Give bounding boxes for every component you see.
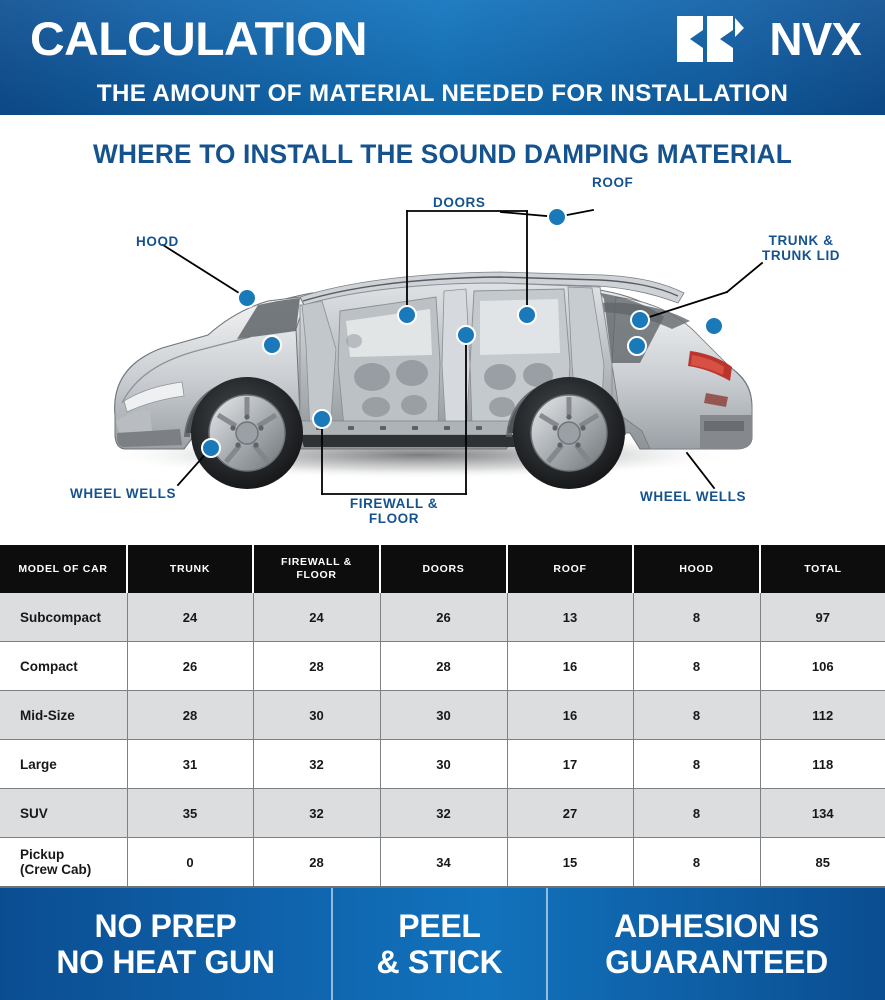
cell-firewall-floor: 28 <box>253 838 380 888</box>
col-header-firewall-line1: FIREWALL & <box>281 556 352 568</box>
calculation-table: MODEL OF CAR TRUNK FIREWALL & FLOOR DOOR… <box>0 545 885 888</box>
brand-logo-text: NVX <box>769 16 861 62</box>
footer-benefit-peel-stick: PEEL & STICK <box>333 888 548 1000</box>
cell-hood: 8 <box>633 740 760 789</box>
table-row: Large 31 32 30 17 8 118 <box>0 740 885 789</box>
callout-roof: ROOF <box>592 175 633 190</box>
callout-firewall-line1: FIREWALL & <box>318 496 470 511</box>
page-header: CALCULATION NVX <box>0 0 885 115</box>
cell-doors: 28 <box>380 642 507 691</box>
infographic-page: CALCULATION NVX <box>0 0 885 1000</box>
diagram-section: WHERE TO INSTALL THE SOUND DAMPING MATER… <box>0 115 885 545</box>
brand-logo: NVX <box>677 16 861 62</box>
cell-trunk: 35 <box>127 789 253 838</box>
cell-total: 85 <box>760 838 885 888</box>
col-header-doors: DOORS <box>380 545 507 593</box>
cell-firewall-floor: 32 <box>253 740 380 789</box>
cell-doors: 30 <box>380 740 507 789</box>
callout-hood: HOOD <box>136 234 179 249</box>
col-header-trunk: TRUNK <box>127 545 253 593</box>
table-row: Pickup (Crew Cab) 0 28 34 15 8 85 <box>0 838 885 888</box>
cell-model-line2: (Crew Cab) <box>20 862 91 877</box>
cell-roof: 16 <box>507 642 633 691</box>
table-header-row: MODEL OF CAR TRUNK FIREWALL & FLOOR DOOR… <box>0 545 885 593</box>
cell-hood: 8 <box>633 593 760 642</box>
cell-trunk: 28 <box>127 691 253 740</box>
cell-model: Pickup (Crew Cab) <box>0 838 127 888</box>
nvx-x-emblem-icon <box>677 16 765 62</box>
cell-total: 134 <box>760 789 885 838</box>
col-header-firewall-floor: FIREWALL & FLOOR <box>253 545 380 593</box>
page-title: CALCULATION <box>30 14 367 64</box>
footer-benefit-adhesion: ADHESION IS GUARANTEED <box>548 888 885 1000</box>
cell-doors: 26 <box>380 593 507 642</box>
cell-roof: 15 <box>507 838 633 888</box>
cell-firewall-floor: 24 <box>253 593 380 642</box>
cell-trunk: 24 <box>127 593 253 642</box>
table-row: Subcompact 24 24 26 13 8 97 <box>0 593 885 642</box>
footer-benefit-1-line2: NO HEAT GUN <box>56 944 274 980</box>
cell-model: Compact <box>0 642 127 691</box>
footer-benefit-1-line1: NO PREP <box>56 908 274 944</box>
cell-model-line1: Pickup <box>20 847 64 862</box>
cell-model: SUV <box>0 789 127 838</box>
table-row: Compact 26 28 28 16 8 106 <box>0 642 885 691</box>
callout-doors: DOORS <box>433 195 486 210</box>
callout-wheel-wells-front: WHEEL WELLS <box>70 486 176 501</box>
cell-roof: 13 <box>507 593 633 642</box>
cell-total: 112 <box>760 691 885 740</box>
footer-benefit-no-prep: NO PREP NO HEAT GUN <box>0 888 333 1000</box>
cell-hood: 8 <box>633 642 760 691</box>
callout-firewall-line2: FLOOR <box>318 511 470 526</box>
footer-benefit-2-line2: & STICK <box>377 944 503 980</box>
cell-hood: 8 <box>633 838 760 888</box>
cell-hood: 8 <box>633 789 760 838</box>
cell-roof: 17 <box>507 740 633 789</box>
cell-roof: 27 <box>507 789 633 838</box>
cell-firewall-floor: 28 <box>253 642 380 691</box>
callout-wheel-wells-rear: WHEEL WELLS <box>640 489 746 504</box>
col-header-firewall-line2: FLOOR <box>296 569 336 581</box>
col-header-total: TOTAL <box>760 545 885 593</box>
cell-model: Large <box>0 740 127 789</box>
calculation-table-section: MODEL OF CAR TRUNK FIREWALL & FLOOR DOOR… <box>0 545 885 888</box>
cell-total: 97 <box>760 593 885 642</box>
col-header-roof: ROOF <box>507 545 633 593</box>
table-row: Mid-Size 28 30 30 16 8 112 <box>0 691 885 740</box>
footer-benefit-2-line1: PEEL <box>377 908 503 944</box>
callout-trunk: TRUNK & TRUNK LID <box>762 233 840 263</box>
callout-trunk-line1: TRUNK & <box>762 233 840 248</box>
footer-benefit-3-line1: ADHESION IS <box>605 908 828 944</box>
header-subtitle: THE AMOUNT OF MATERIAL NEEDED FOR INSTAL… <box>4 80 880 108</box>
cell-model: Subcompact <box>0 593 127 642</box>
cell-hood: 8 <box>633 691 760 740</box>
cell-trunk: 31 <box>127 740 253 789</box>
cell-trunk: 26 <box>127 642 253 691</box>
cell-doors: 34 <box>380 838 507 888</box>
callout-firewall-floor: FIREWALL & FLOOR <box>318 496 470 526</box>
cell-total: 106 <box>760 642 885 691</box>
cell-firewall-floor: 30 <box>253 691 380 740</box>
col-header-model: MODEL OF CAR <box>0 545 127 593</box>
cell-total: 118 <box>760 740 885 789</box>
cell-firewall-floor: 32 <box>253 789 380 838</box>
cell-model: Mid-Size <box>0 691 127 740</box>
col-header-hood: HOOD <box>633 545 760 593</box>
footer-benefit-3-line2: GUARANTEED <box>605 944 828 980</box>
cell-trunk: 0 <box>127 838 253 888</box>
callout-trunk-line2: TRUNK LID <box>762 248 840 263</box>
cell-roof: 16 <box>507 691 633 740</box>
cell-doors: 32 <box>380 789 507 838</box>
cell-doors: 30 <box>380 691 507 740</box>
footer-banner: NO PREP NO HEAT GUN PEEL & STICK ADHESIO… <box>0 888 885 1000</box>
vehicle-diagram <box>0 115 885 545</box>
table-row: SUV 35 32 32 27 8 134 <box>0 789 885 838</box>
